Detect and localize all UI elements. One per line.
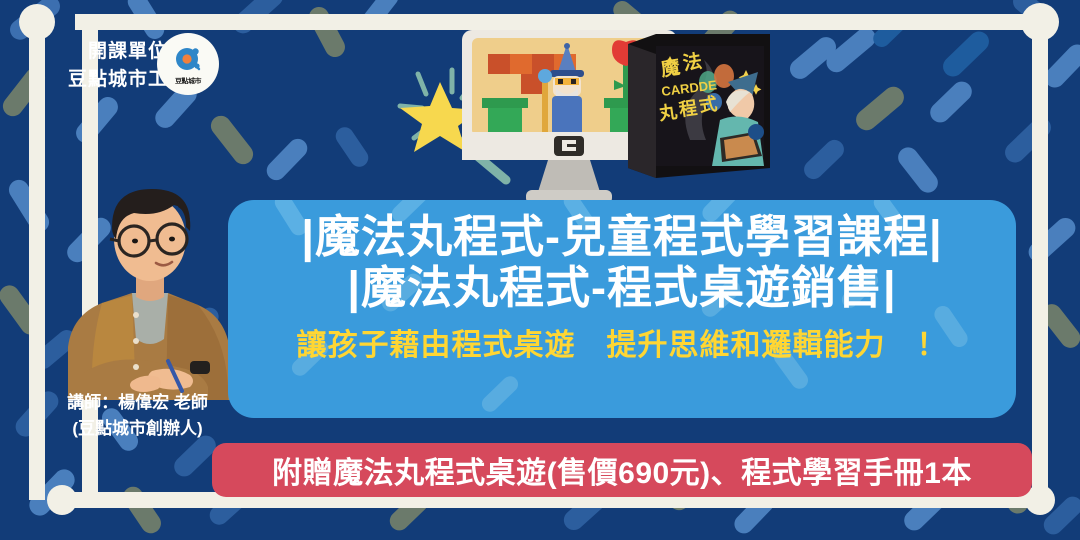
confetti-capsule (870, 10, 911, 50)
instructor-photo (40, 165, 255, 400)
course-title-line2: |魔法丸程式-程式桌遊銷售| (347, 261, 896, 314)
confetti-capsule (1001, 113, 1055, 166)
confetti-capsule (119, 483, 165, 537)
brand-logo: 豆點城市 (157, 33, 219, 95)
confetti-capsule (479, 373, 522, 415)
logo-wordmark: 豆點城市 (175, 76, 201, 85)
confetti-capsule (939, 27, 993, 80)
logo-mark-icon (173, 45, 203, 75)
confetti-capsule (25, 465, 79, 520)
confetti-capsule (1041, 40, 1080, 91)
main-title-panel: |魔法丸程式-兒童程式學習課程| |魔法丸程式-程式桌遊銷售| 讓孩子藉由程式桌… (228, 200, 1016, 418)
confetti-capsule (263, 135, 311, 184)
confetti-capsule (72, 93, 122, 147)
confetti-capsule (207, 112, 257, 168)
confetti-capsule (852, 82, 908, 134)
confetti-capsule (0, 281, 45, 338)
instructor-role: (豆點城市創辦人) (30, 416, 245, 442)
instructor-caption: 講師：楊偉宏 老師 (豆點城市創辦人) (30, 390, 245, 441)
confetti-capsule (800, 136, 848, 183)
confetti-capsule (1038, 300, 1080, 352)
confetti-capsule (124, 0, 168, 43)
svg-text:程: 程 (678, 98, 699, 120)
board-game-box: 魔 法 CARDDE 丸 程 式 (628, 34, 770, 178)
promo-banner: 開課單位： 豆點城市工作室 豆點城市 (0, 0, 1080, 540)
instructor-name: 講師：楊偉宏 老師 (30, 390, 245, 416)
confetti-capsule (1040, 493, 1080, 539)
confetti-capsule (305, 3, 348, 60)
svg-text:丸: 丸 (657, 102, 680, 125)
course-subtitle: 讓孩子藉由程式桌遊 提升思維和邏輯能力 ！ (297, 320, 948, 364)
svg-text:式: 式 (698, 93, 719, 116)
svg-text:法: 法 (681, 49, 703, 75)
confetti-capsule (332, 124, 372, 171)
bonus-banner: 附贈魔法丸程式桌遊(售價690元)、程式學習手冊1本 (212, 443, 1032, 497)
confetti-capsule (1009, 0, 1057, 32)
confetti-capsule (926, 77, 976, 126)
product-illustration: 魔 法 CARDDE 丸 程 式 (390, 20, 790, 210)
bonus-banner-text: 附贈魔法丸程式桌遊(售價690元)、程式學習手冊1本 (272, 448, 972, 492)
confetti-capsule (894, 143, 942, 196)
confetti-capsule (229, 0, 287, 38)
course-title-line1: |魔法丸程式-兒童程式學習課程| (301, 210, 942, 263)
confetti-capsule (1025, 214, 1080, 266)
